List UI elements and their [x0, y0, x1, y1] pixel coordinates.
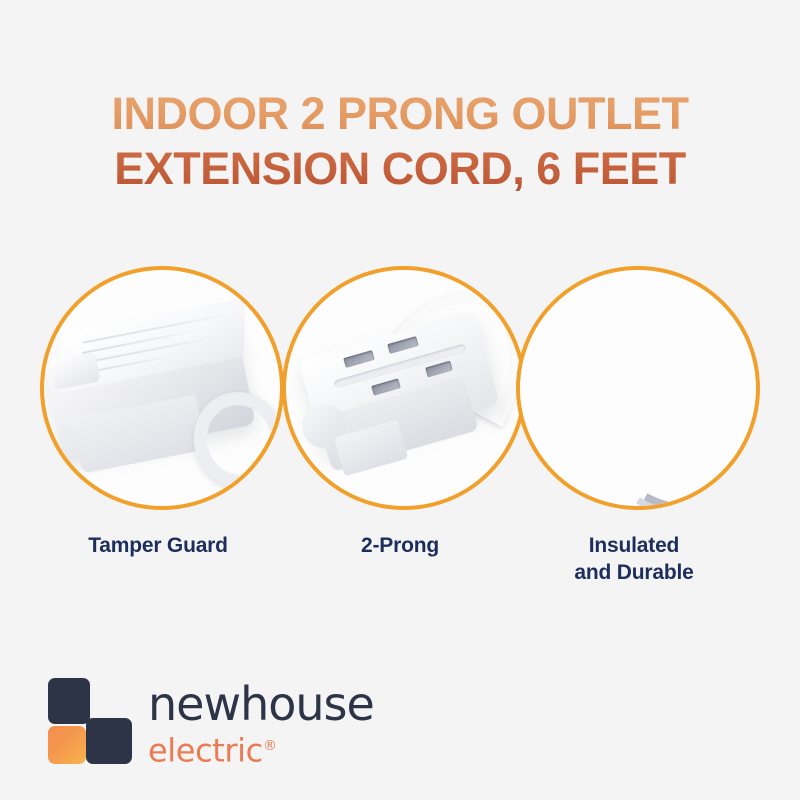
logo-square-bottom-right [86, 718, 132, 764]
page-title-line-2: EXTENSION CORD, 6 FEET [0, 141, 800, 196]
brand-logo: newhouse electric® [48, 678, 368, 770]
coiled-insulated-cord-photo [520, 270, 756, 506]
brand-tagline-text: electric [148, 732, 263, 770]
feature-caption-two-prong: 2-Prong [282, 532, 518, 559]
two-prong-outlet-block-photo [286, 270, 522, 506]
newhouse-logo-mark-icon [48, 678, 132, 764]
feature-caption-insulated: Insulated and Durable [516, 532, 752, 586]
feature-caption-tamper-guard: Tamper Guard [40, 532, 276, 559]
brand-name: newhouse [148, 680, 374, 728]
feature-image-circle-insulated [516, 266, 760, 510]
registered-trademark-icon: ® [263, 738, 277, 754]
feature-item-tamper-guard: Tamper Guard [40, 266, 284, 559]
feature-caption-insulated-line-2: and Durable [574, 561, 693, 584]
feature-row: Tamper Guard 2-Prong [0, 266, 800, 606]
feature-image-circle-two-prong [282, 266, 526, 510]
feature-image-circle-tamper-guard [40, 266, 284, 510]
page-title-line-1: INDOOR 2 PRONG OUTLET [0, 86, 800, 141]
feature-item-insulated: Insulated and Durable [516, 266, 760, 586]
page-title: INDOOR 2 PRONG OUTLET EXTENSION CORD, 6 … [0, 86, 800, 196]
logo-square-accent [48, 726, 86, 764]
feature-item-two-prong: 2-Prong [282, 266, 526, 559]
tamper-guard-cover-photo [44, 270, 280, 506]
feature-caption-insulated-line-1: Insulated [589, 534, 679, 557]
logo-square-top-left [48, 678, 90, 724]
brand-tagline: electric® [148, 728, 374, 769]
brand-logo-text: newhouse electric® [148, 680, 374, 769]
